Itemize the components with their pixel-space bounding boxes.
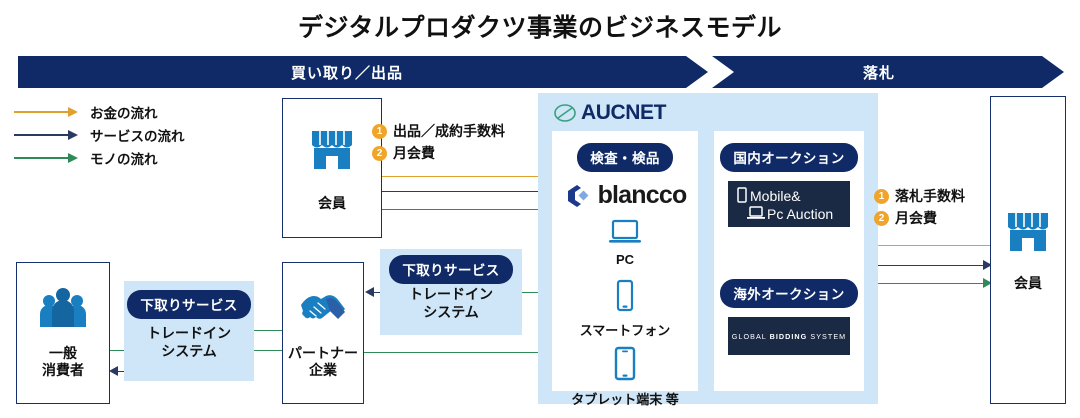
auction-panel: 国内オークション Mobile& Pc Auction 海外オークション GLO… — [714, 131, 864, 391]
diagram-canvas: デジタルプロダクツ事業のビジネスモデル 買い取り／出品 落札 お金の流れ サービ… — [0, 0, 1080, 418]
svg-text:Pc Auction: Pc Auction — [767, 206, 833, 222]
fees-right: 1 落札手数料 2 月会費 — [874, 185, 965, 229]
fee-label-right-2: 月会費 — [895, 208, 937, 228]
legend-item-service: サービスの流れ — [14, 123, 224, 146]
blancco-text: blancco — [598, 181, 687, 210]
mobile-pc-auction-logo: Mobile& Pc Auction — [728, 181, 850, 227]
arrow-right-icon — [14, 107, 80, 117]
legend-label-goods: モノの流れ — [90, 148, 158, 168]
badge-number-icon: 1 — [372, 124, 387, 139]
node-label-partner: パートナー 企業 — [283, 345, 363, 378]
fee-label-left-2: 月会費 — [393, 143, 435, 163]
handshake-icon — [298, 289, 348, 334]
aucnet-brand-text: AUCNET — [581, 101, 666, 125]
flow-service-left — [382, 191, 552, 192]
inspection-pill: 検査・検品 — [577, 143, 673, 172]
gbs-post: SYSTEM — [807, 332, 846, 341]
node-label-member-right: 会員 — [991, 275, 1065, 292]
domestic-auction-pill: 国内オークション — [720, 143, 857, 172]
page-title: デジタルプロダクツ事業のビジネスモデル — [0, 8, 1080, 44]
banner-segment-buyin: 買い取り／出品 — [18, 56, 708, 88]
global-bidding-system-logo: GLOBAL BIDDING SYSTEM — [728, 317, 850, 355]
legend-item-goods: モノの流れ — [14, 146, 224, 169]
device-label-smartphone: スマートフォン — [552, 320, 698, 339]
node-partner[interactable]: パートナー 企業 — [282, 262, 364, 404]
tablet-icon — [612, 369, 638, 386]
flow-money-left — [382, 176, 548, 177]
tradein-box-mid[interactable]: 下取りサービス トレードイン システム — [380, 249, 522, 335]
arrow-right-icon — [14, 153, 80, 163]
badge-number-icon: 1 — [874, 189, 889, 204]
flow-goods-right — [862, 283, 986, 284]
banner-label-buyin: 買い取り／出品 — [291, 62, 403, 83]
arrow-left-icon — [365, 287, 374, 297]
laptop-icon — [608, 232, 642, 249]
gbs-bold: BIDDING — [770, 332, 808, 341]
arrow-left-icon — [109, 366, 118, 376]
node-member-left[interactable]: 会員 — [282, 98, 382, 238]
aucnet-oval-icon — [554, 102, 576, 124]
tradein-pill-wrap-left: 下取りサービス — [124, 290, 254, 319]
fee-row-left-2: 2 月会費 — [372, 142, 505, 164]
shop-icon — [1005, 209, 1051, 258]
node-label-member-left: 会員 — [283, 195, 381, 212]
node-label-consumer: 一般 消費者 — [17, 345, 109, 378]
shop-icon — [309, 127, 355, 176]
blancco-logo: blancco — [552, 181, 698, 210]
legend: お金の流れ サービスの流れ モノの流れ — [14, 100, 224, 169]
smartphone-icon — [614, 300, 636, 317]
node-consumer[interactable]: 一般 消費者 — [16, 262, 110, 404]
badge-number-icon: 2 — [372, 146, 387, 161]
fee-row-left-1: 1 出品／成約手数料 — [372, 120, 505, 142]
badge-number-icon: 2 — [874, 211, 889, 226]
legend-label-service: サービスの流れ — [90, 125, 185, 145]
device-label-tablet: タブレット端末 等 — [552, 389, 698, 408]
device-label-pc: PC — [552, 252, 698, 267]
flow-money-right — [866, 245, 990, 246]
tradein-body-mid: トレードイン システム — [380, 285, 522, 322]
tradein-pill-mid: 下取りサービス — [389, 255, 512, 284]
blancco-mark-icon — [564, 182, 592, 210]
arrow-right-icon — [14, 130, 80, 140]
legend-label-money: お金の流れ — [90, 102, 158, 122]
aucnet-panel: AUCNET 検査・検品 blancco — [538, 93, 878, 404]
flow-goods-left — [382, 209, 548, 210]
aucnet-logo: AUCNET — [554, 101, 666, 125]
fee-label-right-1: 落札手数料 — [895, 186, 965, 206]
fee-row-right-1: 1 落札手数料 — [874, 185, 965, 207]
fees-left: 1 出品／成約手数料 2 月会費 — [372, 120, 505, 164]
inspection-pill-wrap: 検査・検品 — [552, 143, 698, 172]
flow-service-right — [862, 265, 986, 266]
device-tablet: タブレット端末 等 — [552, 346, 698, 408]
flow-goods-partner-aucnet — [364, 352, 548, 353]
inspection-panel: 検査・検品 blancco PC — [552, 131, 698, 391]
people-icon — [38, 285, 88, 336]
gbs-logo-text: GLOBAL BIDDING SYSTEM — [732, 332, 846, 341]
gbs-pre: GLOBAL — [732, 332, 770, 341]
fee-row-right-2: 2 月会費 — [874, 207, 965, 229]
tradein-pill-left: 下取りサービス — [127, 290, 250, 319]
phase-banner: 買い取り／出品 落札 — [18, 56, 1064, 88]
node-member-right[interactable]: 会員 — [990, 96, 1066, 404]
tradein-pill-wrap-mid: 下取りサービス — [380, 255, 522, 284]
tradein-box-left[interactable]: 下取りサービス トレードイン システム — [124, 281, 254, 381]
tradein-body-left: トレードイン システム — [124, 324, 254, 361]
device-pc: PC — [552, 219, 698, 267]
banner-segment-bid: 落札 — [712, 56, 1064, 88]
domestic-pill-wrap: 国内オークション — [714, 143, 864, 172]
flow-goods-tradein-left — [252, 330, 284, 331]
overseas-pill-wrap: 海外オークション — [714, 279, 864, 308]
svg-text:Mobile&: Mobile& — [750, 188, 801, 204]
legend-item-money: お金の流れ — [14, 100, 224, 123]
device-smartphone: スマートフォン — [552, 279, 698, 339]
overseas-auction-pill: 海外オークション — [720, 279, 857, 308]
banner-label-bid: 落札 — [863, 62, 895, 83]
fee-label-left-1: 出品／成約手数料 — [393, 121, 505, 141]
